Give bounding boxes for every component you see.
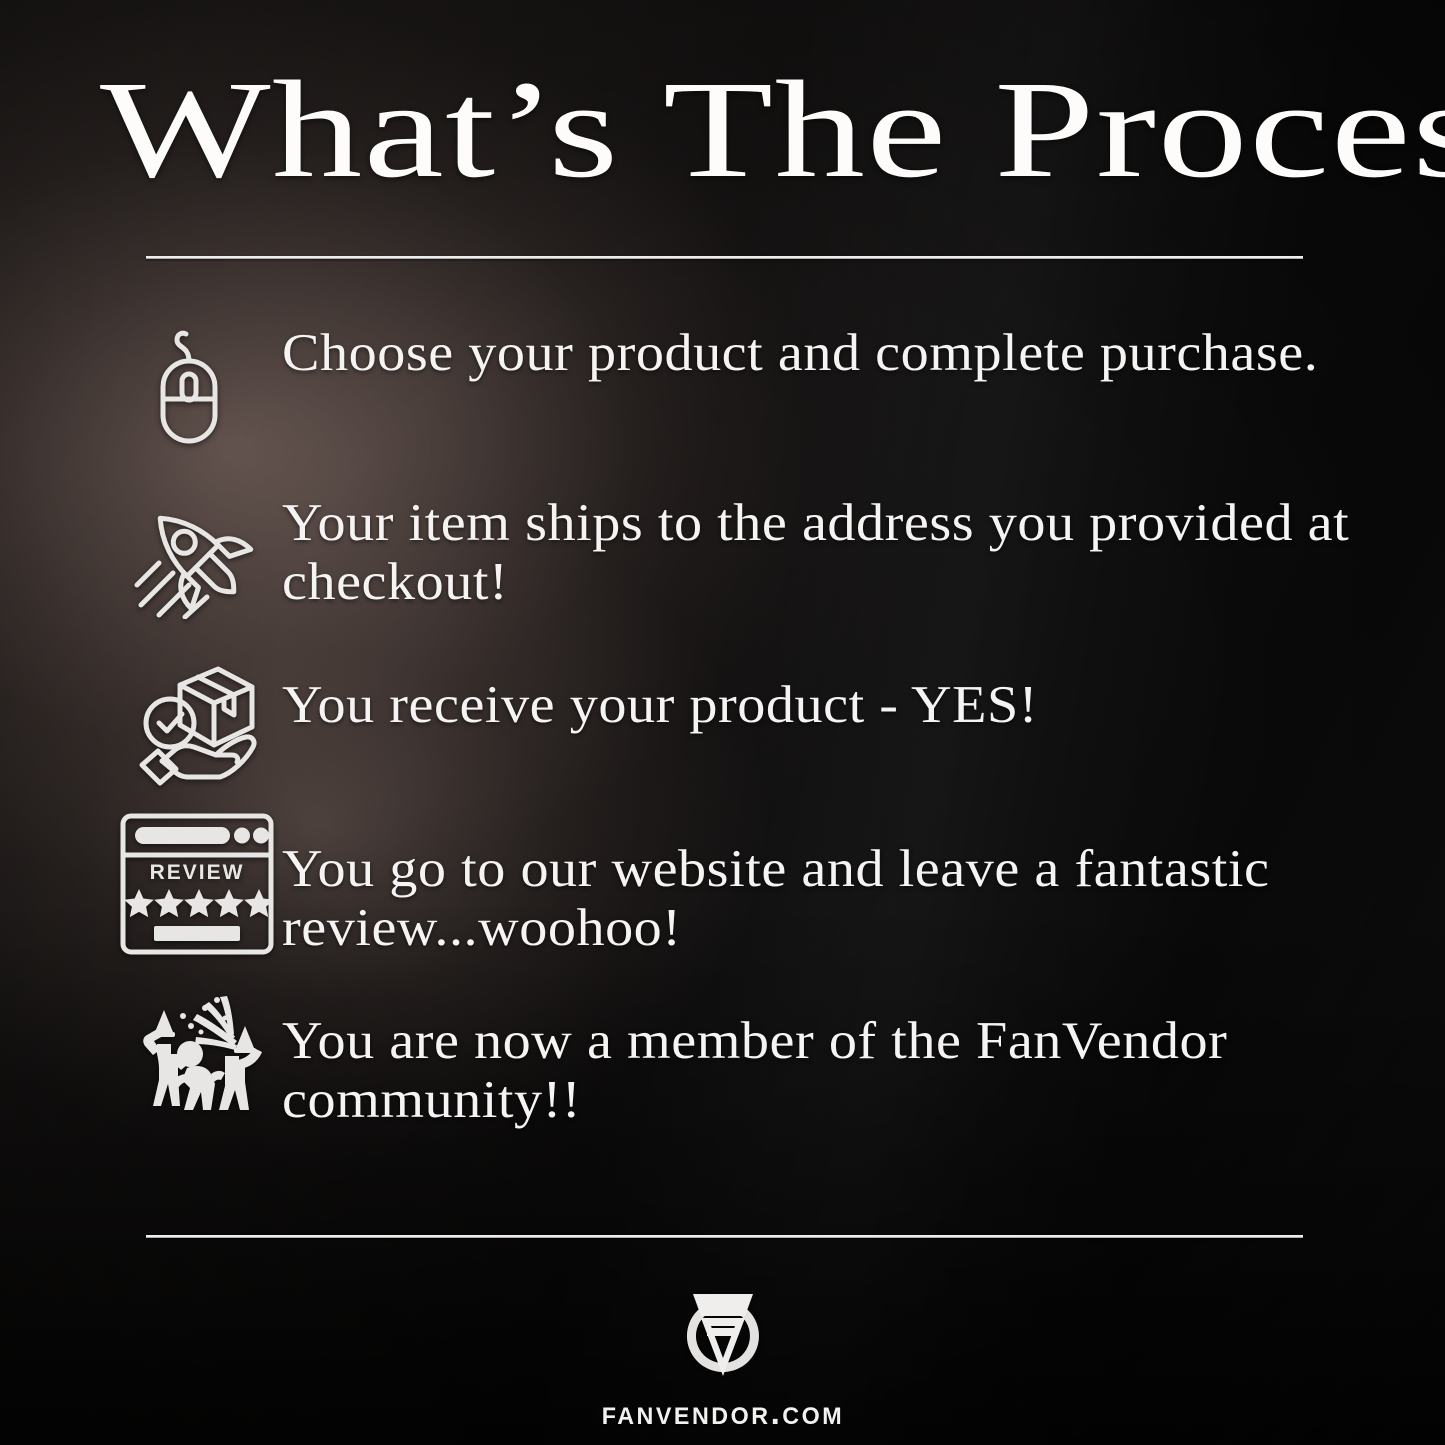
brand-footer: FanVendor.com (0, 1288, 1445, 1433)
rocket-icon (112, 488, 282, 628)
computer-mouse-icon (112, 318, 282, 458)
star-rating-row (124, 889, 274, 917)
process-step-text: You receive your product - YES! (282, 654, 1445, 735)
browser-review-stars-icon: REVIEW (112, 814, 282, 954)
brand-wordmark: FanVendor.com (601, 1394, 843, 1433)
package-in-hand-check-icon (112, 654, 282, 794)
process-step-list: Choose your product and complete purchas… (0, 318, 1445, 1142)
divider-top (146, 256, 1303, 259)
process-step: Choose your product and complete purchas… (0, 318, 1445, 458)
process-step: Your item ships to the address you provi… (0, 488, 1445, 628)
process-step-text: You go to our website and leave a fantas… (282, 814, 1445, 959)
process-poster: What’s The Process Choose your product a… (0, 0, 1445, 1445)
review-label: REVIEW (150, 861, 245, 884)
person-middle (172, 1041, 225, 1110)
divider-bottom (146, 1235, 1303, 1238)
process-step: You receive your product - YES! (0, 654, 1445, 794)
process-step: You are now a member of the FanVendor co… (0, 992, 1445, 1142)
process-step-text: Choose your product and complete purchas… (282, 318, 1445, 383)
process-step-text: You are now a member of the FanVendor co… (282, 992, 1445, 1131)
page-title: What’s The Process (100, 58, 1445, 203)
process-step: REVIEW You go to our website and leave a… (0, 814, 1445, 974)
celebration-people-confetti-icon (112, 992, 282, 1132)
process-step-text: Your item ships to the address you provi… (282, 488, 1445, 613)
fanvendor-shield-fv-logo-icon (671, 1288, 775, 1384)
